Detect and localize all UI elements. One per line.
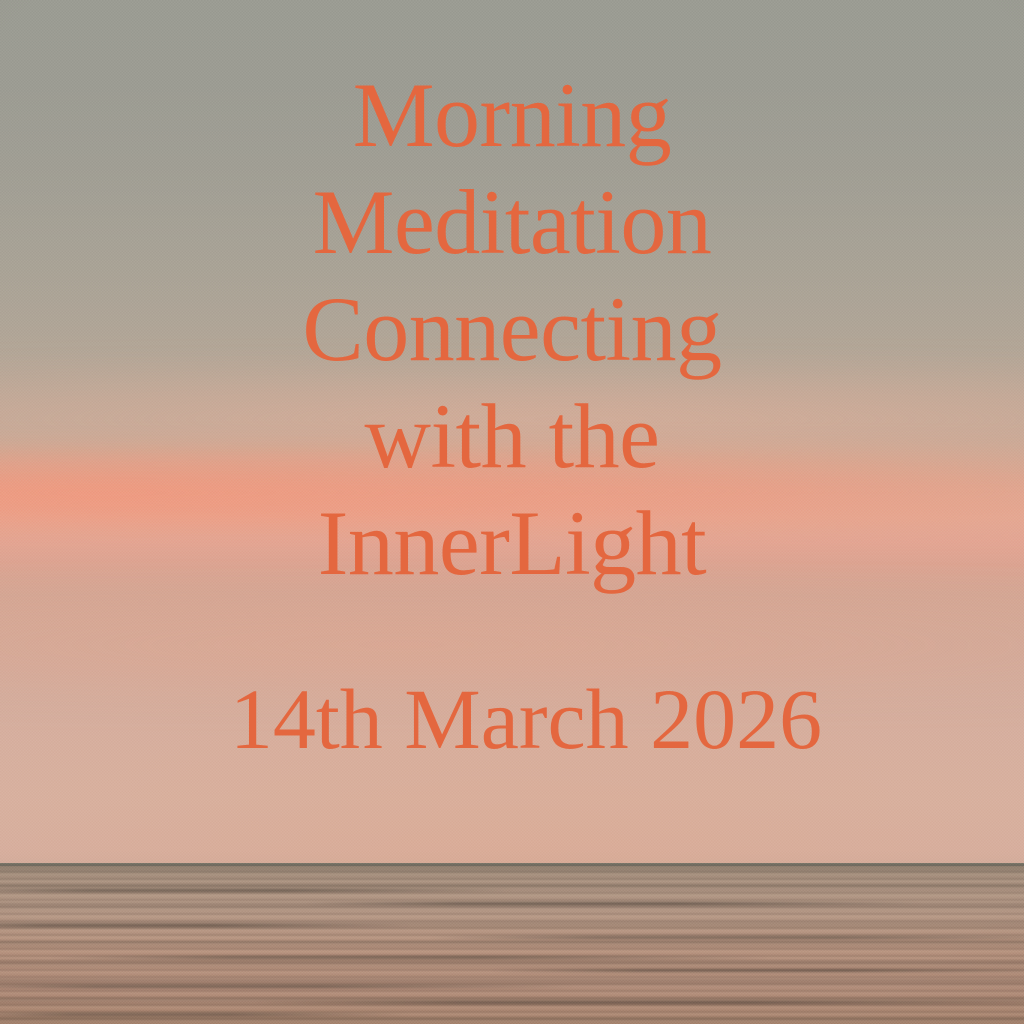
headline-line-1: Morning bbox=[0, 62, 1024, 169]
headline-line-2: Meditation bbox=[0, 169, 1024, 276]
event-date: 14th March 2026 bbox=[0, 669, 1024, 769]
headline-line-4: with the bbox=[0, 383, 1024, 490]
headline-line-3: Connecting bbox=[0, 276, 1024, 383]
poster-canvas: Morning Meditation Connecting with the I… bbox=[0, 0, 1024, 1024]
headline-line-5: InnerLight bbox=[0, 490, 1024, 597]
text-overlay: Morning Meditation Connecting with the I… bbox=[0, 0, 1024, 1024]
headline: Morning Meditation Connecting with the I… bbox=[0, 62, 1024, 597]
